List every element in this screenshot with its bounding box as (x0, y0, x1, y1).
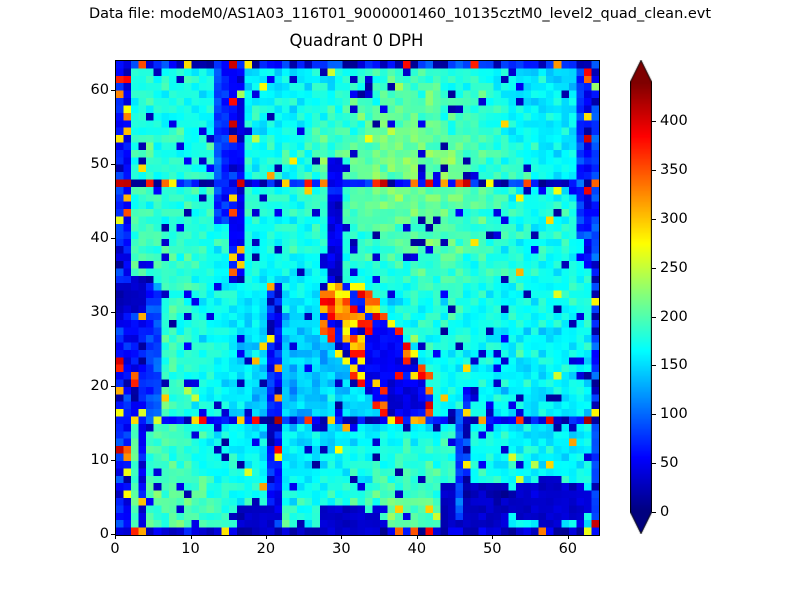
y-axis-tick (111, 238, 115, 239)
colorbar-tick-label: 200 (660, 309, 688, 325)
x-axis-tick-label: 60 (559, 541, 577, 557)
y-axis-tick-label: 50 (91, 156, 109, 172)
colorbar-tick-label: 0 (660, 504, 669, 520)
heatmap-image (116, 61, 599, 535)
colorbar-tick (652, 512, 656, 513)
y-axis-tick-label: 0 (100, 526, 109, 542)
y-axis-tick (111, 90, 115, 91)
y-axis-tick-label: 60 (91, 82, 109, 98)
colorbar-tick (652, 317, 656, 318)
colorbar-tick (652, 170, 656, 171)
figure-suptitle: Data file: modeM0/AS1A03_116T01_90000014… (0, 6, 800, 22)
colorbar-tick-label: 400 (660, 113, 688, 129)
colorbar-gradient (630, 60, 652, 534)
axes-title: Quadrant 0 DPH (115, 31, 598, 50)
y-axis-tick (111, 534, 115, 535)
x-axis-tick (341, 535, 342, 539)
x-axis-tick-label: 50 (483, 541, 501, 557)
colorbar-tick (652, 414, 656, 415)
colorbar-tick (652, 463, 656, 464)
x-axis-tick (492, 535, 493, 539)
colorbar-tick (652, 268, 656, 269)
colorbar-tick-label: 350 (660, 162, 688, 178)
colorbar-tick (652, 219, 656, 220)
colorbar-tick (652, 121, 656, 122)
x-axis-tick-label: 40 (408, 541, 426, 557)
y-axis-tick-label: 40 (91, 230, 109, 246)
heatmap-axes[interactable] (115, 60, 600, 536)
colorbar-tick-label: 250 (660, 260, 688, 276)
colorbar-tick-label: 100 (660, 406, 688, 422)
x-axis-tick (266, 535, 267, 539)
y-axis-tick (111, 460, 115, 461)
x-axis-tick-label: 10 (181, 541, 199, 557)
figure-canvas: Data file: modeM0/AS1A03_116T01_90000014… (0, 0, 800, 600)
x-axis-tick (568, 535, 569, 539)
x-axis-tick (191, 535, 192, 539)
colorbar[interactable] (630, 60, 652, 534)
colorbar-tick-label: 300 (660, 211, 688, 227)
x-axis-tick-label: 20 (257, 541, 275, 557)
colorbar-tick-label: 150 (660, 357, 688, 373)
colorbar-tick-label: 50 (660, 455, 678, 471)
y-axis-tick (111, 164, 115, 165)
y-axis-tick-label: 20 (91, 378, 109, 394)
x-axis-tick (417, 535, 418, 539)
x-axis-tick (115, 535, 116, 539)
y-axis-tick-label: 10 (91, 452, 109, 468)
x-axis-tick-label: 30 (332, 541, 350, 557)
y-axis-tick (111, 312, 115, 313)
colorbar-tick (652, 365, 656, 366)
y-axis-tick (111, 386, 115, 387)
x-axis-tick-label: 0 (110, 541, 119, 557)
y-axis-tick-label: 30 (91, 304, 109, 320)
